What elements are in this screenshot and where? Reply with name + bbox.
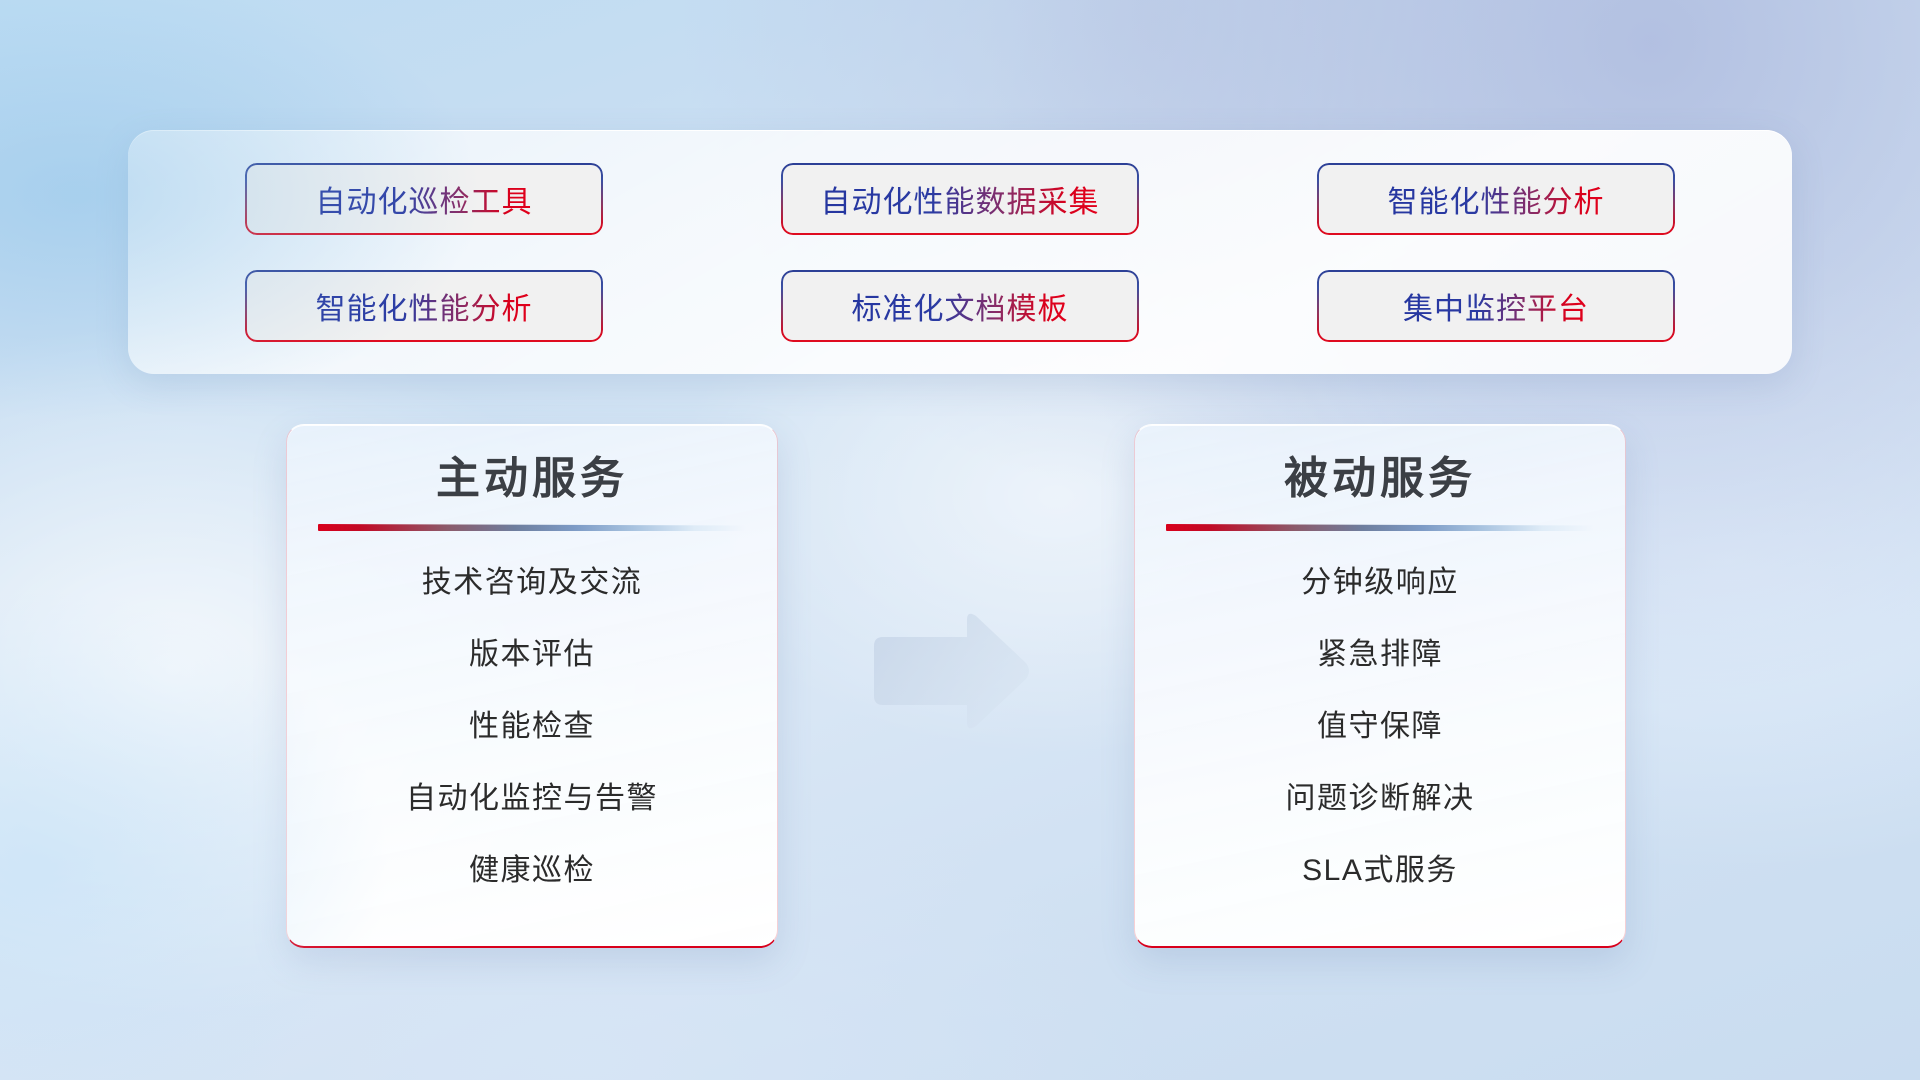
service-list-item[interactable]: 健康巡检: [469, 835, 595, 907]
card-divider: [1166, 524, 1594, 531]
diagram-canvas: 自动化巡检工具 自动化性能数据采集 智能化性能分析 智能化性能分析 标准化文档模…: [0, 0, 1920, 1080]
capability-tag[interactable]: 标准化文档模板: [781, 270, 1139, 342]
capability-tag[interactable]: 集中监控平台: [1317, 270, 1675, 342]
capability-tag[interactable]: 自动化性能数据采集: [781, 163, 1139, 235]
service-list-item[interactable]: 版本评估: [469, 619, 595, 691]
service-item-list: 技术咨询及交流 版本评估 性能检查 自动化监控与告警 健康巡检: [287, 531, 777, 946]
service-card-active: 主动服务 技术咨询及交流 版本评估 性能检查 自动化监控与告警 健康巡检: [286, 424, 778, 948]
service-card-passive: 被动服务 分钟级响应 紧急排障 值守保障 问题诊断解决 SLA式服务: [1134, 424, 1626, 948]
capability-tag-label: 标准化文档模板: [852, 284, 1069, 328]
capability-tag-label: 集中监控平台: [1403, 284, 1589, 328]
arrow-right-icon: [866, 610, 1032, 732]
service-list-item[interactable]: 问题诊断解决: [1286, 763, 1475, 835]
capability-tag-label: 自动化性能数据采集: [821, 177, 1100, 221]
capability-tag-label: 智能化性能分析: [1388, 177, 1605, 221]
card-divider: [318, 524, 746, 531]
service-list-item[interactable]: 值守保障: [1317, 691, 1443, 763]
capability-tag-label: 自动化巡检工具: [316, 177, 533, 221]
service-list-item[interactable]: 分钟级响应: [1301, 547, 1459, 619]
service-card-title: 被动服务: [1284, 451, 1476, 506]
capability-tag-label: 智能化性能分析: [316, 284, 533, 328]
service-list-item[interactable]: 紧急排障: [1317, 619, 1443, 691]
capability-tag[interactable]: 智能化性能分析: [1317, 163, 1675, 235]
service-list-item[interactable]: SLA式服务: [1302, 835, 1458, 907]
service-list-item[interactable]: 自动化监控与告警: [406, 763, 658, 835]
capability-tag[interactable]: 智能化性能分析: [245, 270, 603, 342]
service-list-item[interactable]: 性能检查: [469, 691, 595, 763]
service-list-item[interactable]: 技术咨询及交流: [422, 547, 643, 619]
service-item-list: 分钟级响应 紧急排障 值守保障 问题诊断解决 SLA式服务: [1135, 531, 1625, 946]
capability-tag-panel: 自动化巡检工具 自动化性能数据采集 智能化性能分析 智能化性能分析 标准化文档模…: [128, 130, 1792, 374]
service-card-title: 主动服务: [436, 451, 628, 506]
capability-tag[interactable]: 自动化巡检工具: [245, 163, 603, 235]
